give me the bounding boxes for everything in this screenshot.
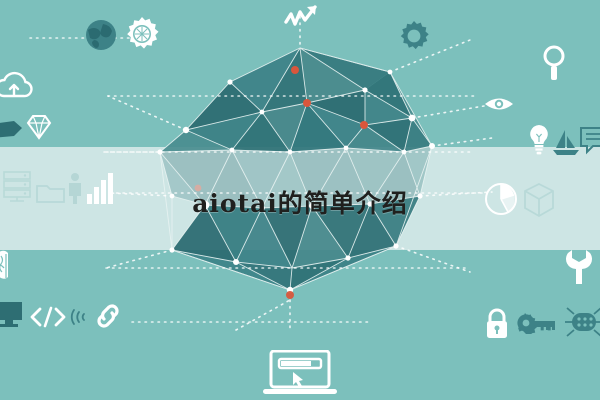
bar-chart-icon bbox=[86, 172, 114, 204]
laptop-search-icon bbox=[262, 350, 338, 396]
cube-icon bbox=[522, 182, 556, 218]
code-brackets-icon bbox=[30, 306, 66, 328]
magnifier-icon bbox=[540, 44, 570, 84]
key-icon bbox=[516, 312, 556, 334]
cloud-upload-icon bbox=[0, 68, 38, 102]
link-chain-icon bbox=[92, 302, 124, 330]
chat-document-icon bbox=[580, 126, 600, 156]
server-rack-icon bbox=[2, 170, 32, 204]
screen-icon bbox=[0, 302, 24, 328]
gear-icon bbox=[124, 16, 160, 52]
pie-chart-icon bbox=[484, 182, 518, 216]
lock-icon bbox=[484, 308, 510, 340]
poster-canvas: aiotai的简单介绍 bbox=[0, 0, 600, 400]
folder-icon bbox=[36, 180, 66, 204]
bug-icon bbox=[564, 306, 600, 338]
lightbulb-icon bbox=[527, 124, 551, 158]
person-icon bbox=[66, 172, 84, 204]
diamond-icon bbox=[24, 112, 54, 142]
ribbon-icon bbox=[0, 118, 26, 142]
brain-icon bbox=[0, 250, 24, 282]
signal-waves-icon bbox=[70, 306, 92, 328]
wrench-icon bbox=[564, 248, 594, 286]
globe-icon bbox=[84, 18, 118, 52]
sailboat-icon bbox=[552, 128, 580, 158]
growth-chart-arrow-icon bbox=[284, 4, 320, 30]
gear-icon bbox=[398, 20, 430, 52]
eye-icon bbox=[484, 94, 514, 114]
